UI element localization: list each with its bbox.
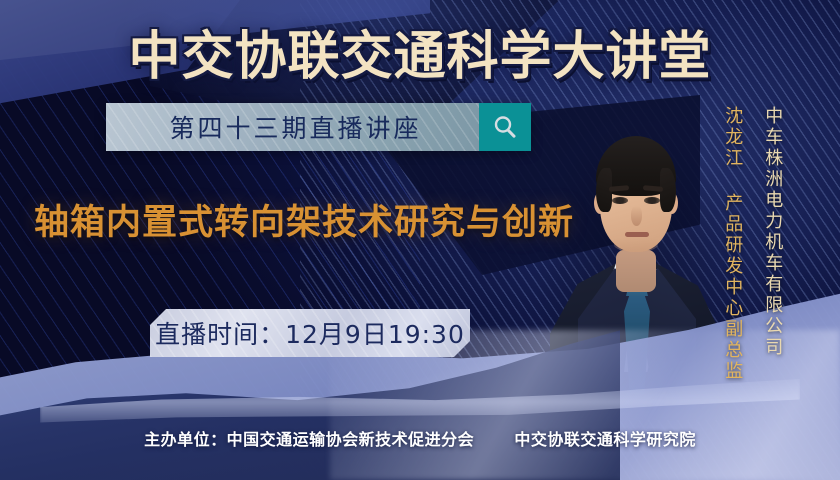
portrait-chin (614, 238, 658, 252)
footer-organizers: 主办单位：中国交通运输协会新技术促进分会 中交协联交通科学研究院 (0, 426, 840, 450)
portrait-nose (631, 206, 642, 226)
portrait-eye-right (644, 197, 660, 204)
live-stream-poster: 中交协联交通科学大讲堂 第四十三期直播讲座 轴箱内置式转向架技术研究与创新 直播… (0, 0, 840, 480)
session-bar[interactable]: 第四十三期直播讲座 (106, 103, 531, 151)
portrait-mouth (625, 232, 649, 237)
footer-organizer-secondary: 中交协联交通科学研究院 (514, 430, 696, 449)
footer-organizer-primary: 主办单位：中国交通运输协会新技术促进分会 (144, 430, 474, 449)
speaker-name-and-role: 沈龙江 产品研发中心副总监 (722, 106, 743, 382)
portrait-eye-left (612, 197, 628, 204)
speaker-company: 中车株洲电力机车有限公司 (762, 106, 783, 358)
search-icon-box[interactable] (479, 103, 531, 151)
search-icon (491, 113, 519, 141)
live-time-badge: 直播时间：12月9日19:30 (150, 309, 470, 357)
portrait-neck (616, 250, 656, 292)
topic-title: 轴箱内置式转向架技术研究与创新 (34, 194, 594, 245)
page-title: 中交协联交通科学大讲堂 (0, 14, 840, 89)
session-bar-label: 第四十三期直播讲座 (106, 103, 479, 151)
live-time-label: 直播时间：12月9日19:30 (155, 315, 465, 351)
